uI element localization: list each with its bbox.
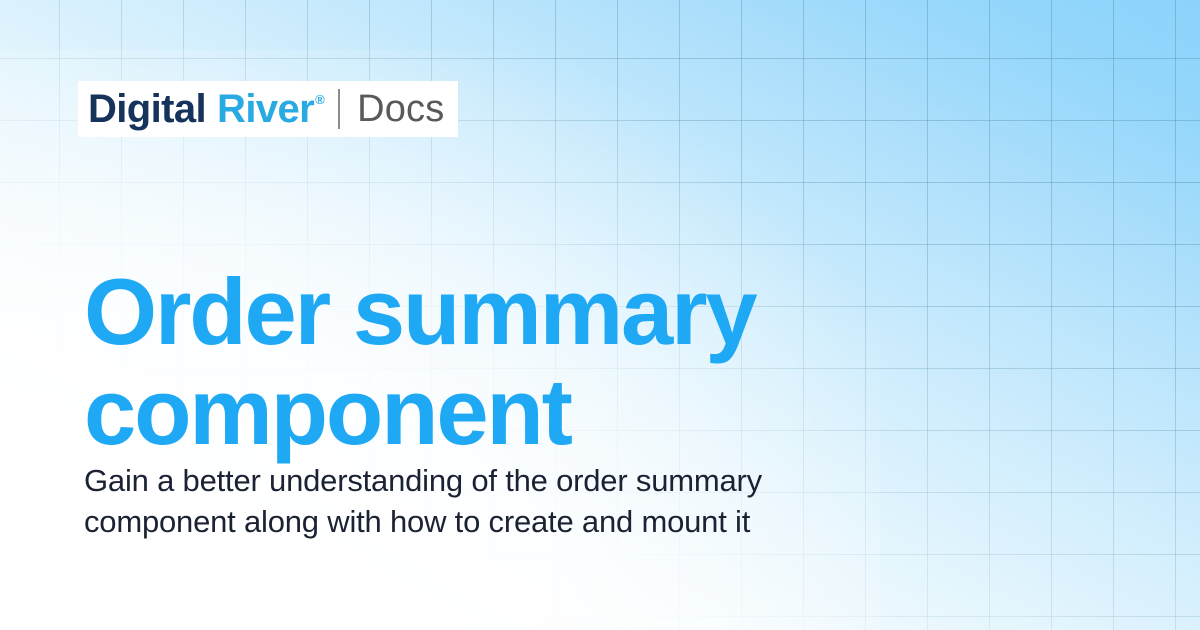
logo-word-docs: Docs bbox=[357, 90, 444, 128]
digital-river-wordmark: Digital River ® bbox=[88, 89, 324, 129]
logo-divider bbox=[338, 89, 340, 129]
logo-word-river: River bbox=[217, 89, 314, 129]
registered-trademark-icon: ® bbox=[315, 93, 324, 106]
digital-river-docs-logo[interactable]: Digital River ® Docs bbox=[78, 81, 458, 137]
page-subtitle: Gain a better understanding of the order… bbox=[84, 460, 844, 542]
logo-word-digital: Digital bbox=[88, 89, 206, 129]
social-share-banner: Digital River ® Docs Order summary compo… bbox=[0, 0, 1200, 630]
page-title: Order summary component bbox=[84, 262, 784, 461]
